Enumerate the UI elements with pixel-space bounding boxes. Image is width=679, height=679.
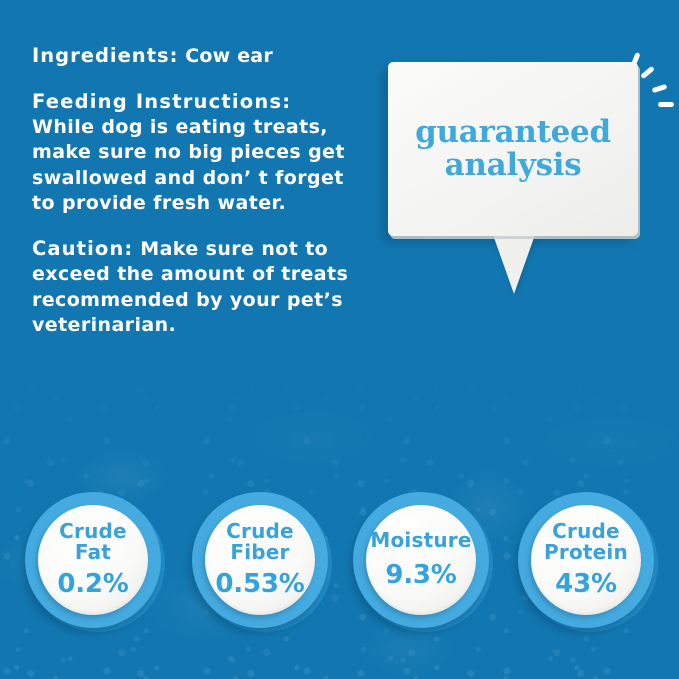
circle-label-line-2: Fiber: [226, 542, 294, 563]
circle-label-line-2: Fat: [59, 542, 127, 563]
analysis-circle-crude-fat: Crude Fat 0.2%: [25, 492, 161, 628]
sparkle-dash-1: [631, 52, 640, 65]
sparkle-dash-4: [658, 102, 674, 107]
circle-label-line-1: Crude: [226, 521, 294, 542]
ingredients-paragraph: Ingredients: Cow ear: [32, 44, 362, 69]
ingredients-value: Cow ear: [185, 45, 273, 67]
circle-disc: Crude Protein 43%: [531, 505, 641, 615]
guaranteed-analysis-bubble: guaranteed analysis: [388, 62, 640, 274]
bubble-line-1: guaranteed: [415, 116, 611, 149]
caution-paragraph: Caution: Make sure not to exceed the amo…: [32, 236, 362, 338]
guaranteed-analysis-circles: Crude Fat 0.2% Crude Fiber 0.53%: [0, 488, 679, 658]
circle-label: Crude Fat: [59, 521, 127, 563]
circle-value: 0.53%: [215, 569, 304, 599]
bubble-tail: [492, 232, 536, 294]
product-label-panel: Ingredients: Cow ear Feeding Instruction…: [0, 0, 679, 679]
bubble-text: guaranteed analysis: [388, 62, 638, 236]
circle-label-line-1: Crude: [544, 521, 628, 542]
feeding-instructions-paragraph: Feeding Instructions: While dog is eatin…: [32, 89, 362, 216]
circle-value: 43%: [555, 569, 617, 599]
sparkle-dash-3: [652, 84, 668, 93]
circle-label: Moisture: [370, 530, 471, 551]
circle-disc: Crude Fiber 0.53%: [205, 505, 315, 615]
circle-label-line-1: Crude: [59, 521, 127, 542]
analysis-circle-crude-protein: Crude Protein 43%: [518, 492, 654, 628]
ingredients-label: Ingredients:: [32, 44, 178, 67]
circle-label: Crude Fiber: [226, 521, 294, 563]
circle-value: 9.3%: [385, 560, 456, 590]
circle-value: 0.2%: [57, 569, 128, 599]
feeding-instructions-body: While dog is eating treats, make sure no…: [32, 116, 345, 214]
bubble-line-2: analysis: [445, 149, 582, 182]
circle-label-line-1: Moisture: [370, 530, 471, 551]
circle-disc: Moisture 9.3%: [366, 505, 476, 615]
analysis-circle-crude-fiber: Crude Fiber 0.53%: [192, 492, 328, 628]
circle-label-line-2: Protein: [544, 542, 628, 563]
analysis-circle-moisture: Moisture 9.3%: [353, 492, 489, 628]
circle-disc: Crude Fat 0.2%: [38, 505, 148, 615]
feeding-instructions-label: Feeding Instructions:: [32, 89, 362, 114]
circle-label: Crude Protein: [544, 521, 628, 563]
sparkle-lines-icon: [628, 52, 679, 110]
sparkle-dash-2: [640, 66, 655, 79]
product-info-text: Ingredients: Cow ear Feeding Instruction…: [32, 44, 362, 338]
caution-label: Caution:: [32, 237, 133, 260]
